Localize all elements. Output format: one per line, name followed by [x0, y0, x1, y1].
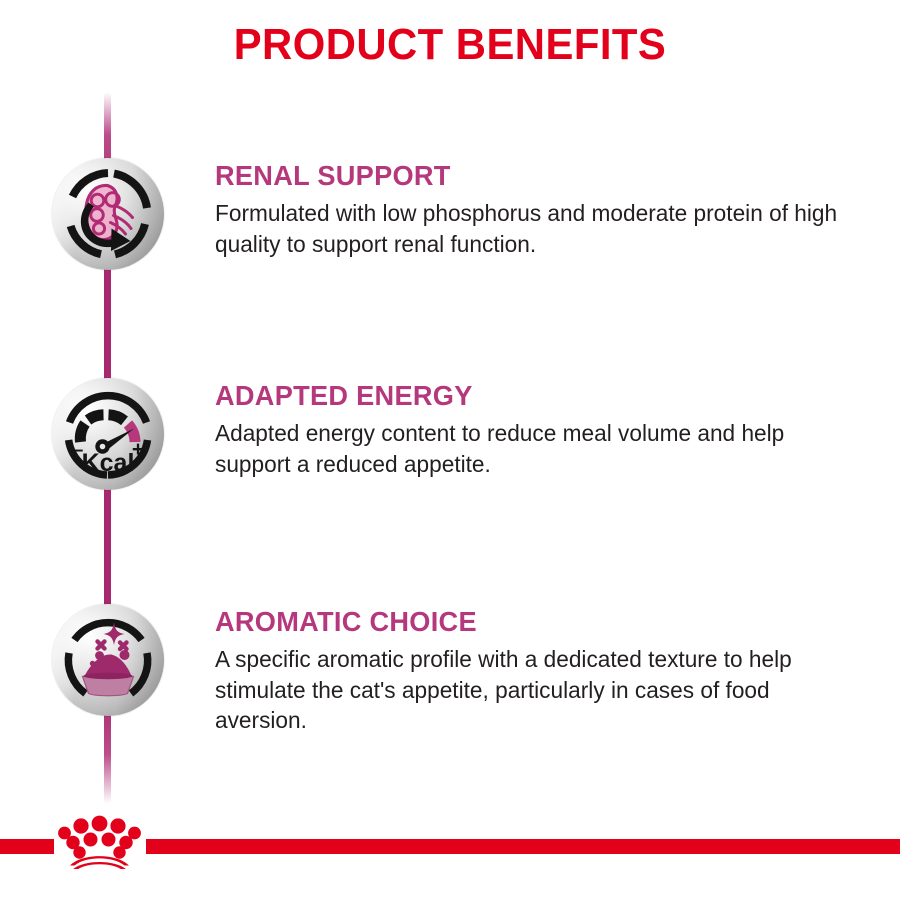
footer-brand-bar	[0, 833, 900, 859]
aroma-icon-badge	[52, 604, 164, 716]
energy-icon-badge: – + Kcal	[52, 378, 164, 490]
benefit-description: A specific aromatic profile with a dedic…	[215, 644, 860, 736]
renal-icon-badge	[52, 158, 164, 270]
benefit-heading: RENAL SUPPORT	[215, 160, 855, 192]
benefit-description: Adapted energy content to reduce meal vo…	[215, 418, 860, 479]
benefit-text-block: RENAL SUPPORT Formulated with low phosph…	[215, 160, 875, 259]
aroma-food-bowl-icon	[52, 604, 164, 716]
gauge-unit-label: Kcal	[82, 449, 135, 477]
benefit-text-block: AROMATIC CHOICE A specific aromatic prof…	[215, 606, 875, 736]
royal-canin-crown-logo	[52, 811, 148, 869]
kidney-renal-icon	[52, 158, 164, 270]
product-benefits-page: PRODUCT BENEFITS	[0, 0, 900, 900]
footer-bar-left	[0, 839, 54, 854]
benefit-heading: ADAPTED ENERGY	[215, 380, 855, 412]
benefit-heading: AROMATIC CHOICE	[215, 606, 855, 638]
kcal-gauge-icon: – + Kcal	[52, 378, 164, 490]
benefit-description: Formulated with low phosphorus and moder…	[215, 198, 860, 259]
benefit-text-block: ADAPTED ENERGY Adapted energy content to…	[215, 380, 875, 479]
page-title: PRODUCT BENEFITS	[23, 22, 878, 68]
footer-bar-right	[146, 839, 900, 854]
